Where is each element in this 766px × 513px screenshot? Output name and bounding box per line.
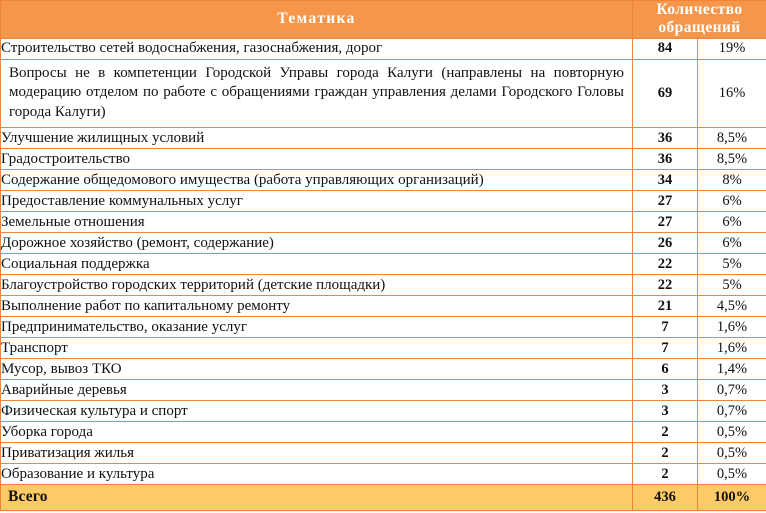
total-row: Всего 436 100% (1, 485, 766, 511)
table-row: Транспорт71,6% (1, 338, 766, 359)
appeals-by-topic-table: Тематика Количество обращений Строительс… (0, 0, 766, 511)
cell-count: 27 (633, 191, 698, 212)
cell-share: 6% (698, 233, 766, 254)
cell-topic: Вопросы не в компетенции Городской Управ… (1, 59, 633, 128)
appeals-table-container: Тематика Количество обращений Строительс… (0, 0, 766, 511)
cell-topic: Уборка города (1, 422, 633, 443)
table-row: Предпринимательство, оказание услуг71,6% (1, 317, 766, 338)
table-row: Образование и культура20,5% (1, 464, 766, 485)
table-body: Строительство сетей водоснабжения, газос… (1, 38, 766, 485)
cell-topic: Аварийные деревья (1, 380, 633, 401)
table-footer: Всего 436 100% (1, 485, 766, 511)
table-row: Предоставление коммунальных услуг276% (1, 191, 766, 212)
cell-count: 3 (633, 380, 698, 401)
column-header-count-line2: обращений (658, 19, 740, 36)
cell-count: 2 (633, 422, 698, 443)
cell-share: 0,7% (698, 380, 766, 401)
cell-topic: Физическая культура и спорт (1, 401, 633, 422)
cell-share: 5% (698, 254, 766, 275)
cell-topic: Предпринимательство, оказание услуг (1, 317, 633, 338)
cell-share: 8,5% (698, 149, 766, 170)
cell-count: 3 (633, 401, 698, 422)
cell-count: 36 (633, 149, 698, 170)
table-row: Приватизация жилья20,5% (1, 443, 766, 464)
cell-share: 1,6% (698, 338, 766, 359)
cell-count: 6 (633, 359, 698, 380)
header-row: Тематика Количество обращений (1, 1, 766, 39)
table-row: Физическая культура и спорт30,7% (1, 401, 766, 422)
cell-count: 22 (633, 254, 698, 275)
column-header-topic: Тематика (1, 1, 633, 39)
cell-count: 27 (633, 212, 698, 233)
cell-share: 1,6% (698, 317, 766, 338)
cell-count: 84 (633, 38, 698, 59)
cell-share: 1,4% (698, 359, 766, 380)
table-row: Улучшение жилищных условий368,5% (1, 128, 766, 149)
table-row: Уборка города20,5% (1, 422, 766, 443)
cell-share: 8% (698, 170, 766, 191)
cell-topic: Образование и культура (1, 464, 633, 485)
cell-share: 0,5% (698, 422, 766, 443)
cell-count: 2 (633, 464, 698, 485)
cell-share: 0,5% (698, 464, 766, 485)
table-row: Вопросы не в компетенции Городской Управ… (1, 59, 766, 128)
cell-count: 7 (633, 317, 698, 338)
cell-topic: Улучшение жилищных условий (1, 128, 633, 149)
cell-topic: Земельные отношения (1, 212, 633, 233)
total-count: 436 (633, 485, 698, 511)
cell-topic: Градостроительство (1, 149, 633, 170)
cell-count: 22 (633, 275, 698, 296)
table-row: Содержание общедомового имущества (работ… (1, 170, 766, 191)
table-row: Строительство сетей водоснабжения, газос… (1, 38, 766, 59)
cell-topic: Содержание общедомового имущества (работ… (1, 170, 633, 191)
table-row: Мусор, вывоз ТКО61,4% (1, 359, 766, 380)
cell-count: 2 (633, 443, 698, 464)
cell-share: 0,7% (698, 401, 766, 422)
cell-share: 6% (698, 212, 766, 233)
cell-share: 19% (698, 38, 766, 59)
cell-share: 5% (698, 275, 766, 296)
cell-topic: Мусор, вывоз ТКО (1, 359, 633, 380)
cell-count: 69 (633, 59, 698, 128)
cell-count: 36 (633, 128, 698, 149)
table-row: Дорожное хозяйство (ремонт, содержание)2… (1, 233, 766, 254)
table-row: Выполнение работ по капитальному ремонту… (1, 296, 766, 317)
cell-count: 21 (633, 296, 698, 317)
column-header-count-line1: Количество (657, 1, 743, 18)
cell-topic: Приватизация жилья (1, 443, 633, 464)
cell-share: 8,5% (698, 128, 766, 149)
table-header: Тематика Количество обращений (1, 1, 766, 39)
cell-topic: Строительство сетей водоснабжения, газос… (1, 38, 633, 59)
table-row: Земельные отношения276% (1, 212, 766, 233)
table-row: Благоустройство городских территорий (де… (1, 275, 766, 296)
cell-topic: Выполнение работ по капитальному ремонту (1, 296, 633, 317)
cell-share: 6% (698, 191, 766, 212)
table-row: Аварийные деревья30,7% (1, 380, 766, 401)
table-row: Социальная поддержка225% (1, 254, 766, 275)
total-label: Всего (1, 485, 633, 511)
cell-share: 0,5% (698, 443, 766, 464)
cell-count: 34 (633, 170, 698, 191)
total-share: 100% (698, 485, 766, 511)
cell-topic: Предоставление коммунальных услуг (1, 191, 633, 212)
cell-topic: Дорожное хозяйство (ремонт, содержание) (1, 233, 633, 254)
cell-share: 4,5% (698, 296, 766, 317)
cell-topic: Социальная поддержка (1, 254, 633, 275)
cell-share: 16% (698, 59, 766, 128)
column-header-count: Количество обращений (633, 1, 766, 39)
cell-topic: Транспорт (1, 338, 633, 359)
table-row: Градостроительство368,5% (1, 149, 766, 170)
cell-topic: Благоустройство городских территорий (де… (1, 275, 633, 296)
cell-count: 26 (633, 233, 698, 254)
cell-count: 7 (633, 338, 698, 359)
